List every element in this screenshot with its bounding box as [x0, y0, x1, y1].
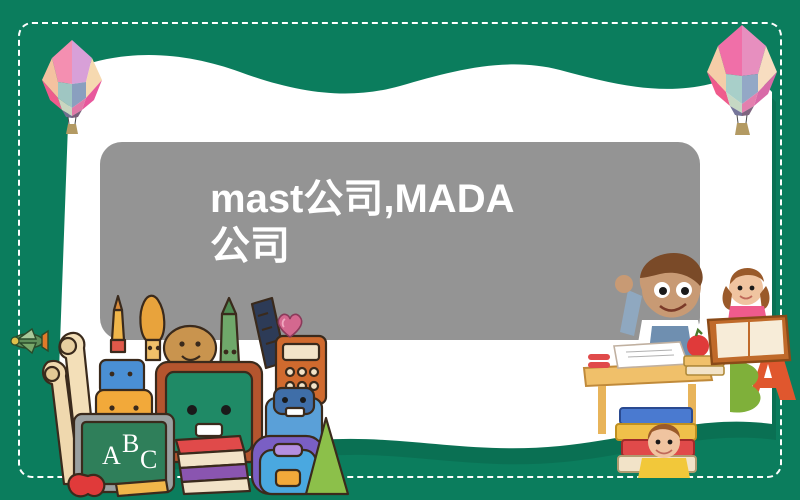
banner-canvas: A B C — [0, 0, 800, 500]
chalkboard-letter-a: A — [102, 441, 121, 470]
chalkboard-letter-c: C — [140, 445, 157, 474]
school-supplies-illustration: A B C — [40, 288, 370, 500]
balloon-right-icon — [700, 22, 784, 145]
children-reading-illustration — [580, 250, 800, 485]
balloon-left-icon — [36, 38, 108, 143]
airplane-icon — [6, 325, 50, 364]
page-title: mast公司,MADA公司 — [210, 176, 540, 270]
heart-icon — [275, 312, 305, 345]
chalkboard-letter-b: B — [122, 429, 139, 458]
